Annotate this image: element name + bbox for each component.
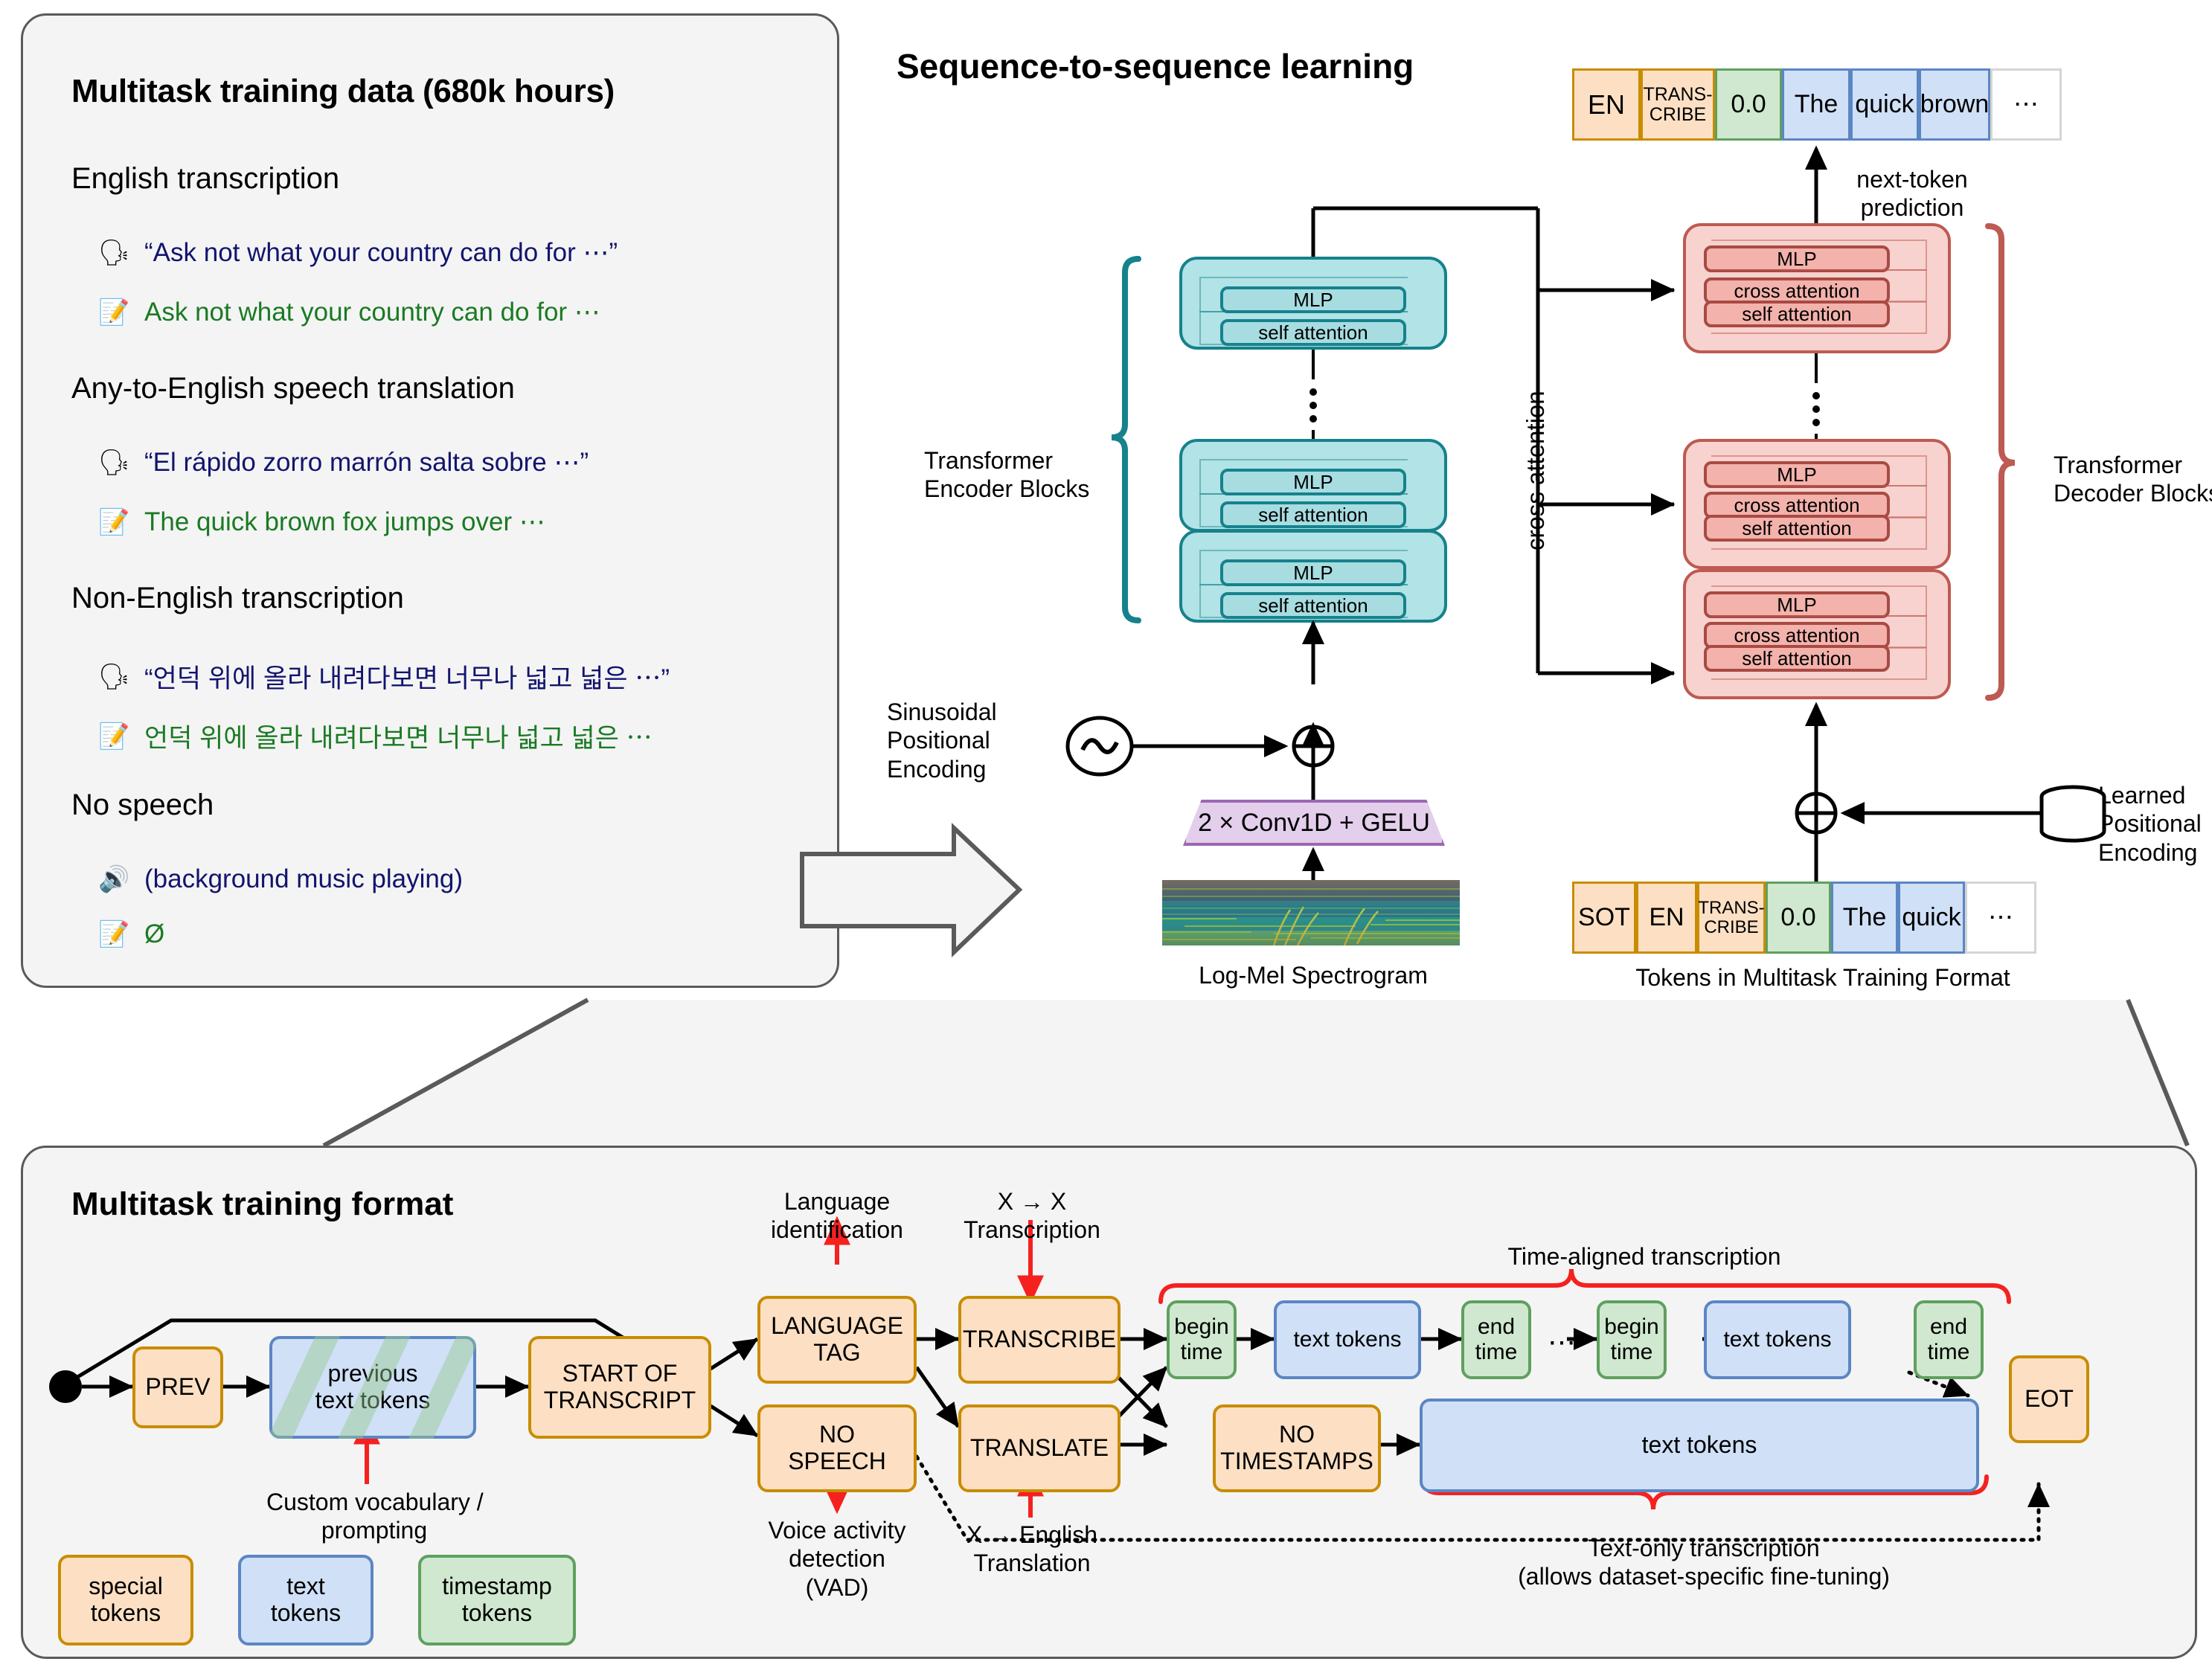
annotation-x-to-x-transcription: X → X Transcription bbox=[939, 1187, 1125, 1245]
node-prev[interactable]: PREV bbox=[132, 1346, 223, 1428]
encoder-mlp: MLP bbox=[1220, 469, 1406, 495]
decoder-self-attention: self attention bbox=[1704, 645, 1890, 672]
output-token-quick: quick bbox=[1850, 68, 1919, 141]
legend-text-tokens: text tokens bbox=[238, 1555, 374, 1646]
encoder-self-attention: self attention bbox=[1220, 592, 1406, 619]
decoder-mlp: MLP bbox=[1704, 461, 1890, 488]
annotation-vad: Voice activity detection (VAD) bbox=[744, 1516, 930, 1602]
next-token-prediction-label: next-token prediction bbox=[1808, 165, 2016, 222]
memo-pencil-icon: 📝 bbox=[98, 722, 144, 751]
memo-pencil-icon: 📝 bbox=[98, 507, 144, 537]
encoder-mlp: MLP bbox=[1220, 286, 1406, 313]
loudspeaker-icon: 🔊 bbox=[98, 864, 144, 894]
node-end-time-1[interactable]: end time bbox=[1461, 1300, 1531, 1379]
transcript-example-text: 언덕 위에 올라 내려다보면 너무나 넓고 넓은 ⋯ bbox=[144, 717, 653, 755]
decoder-self-attention: self attention bbox=[1704, 515, 1890, 542]
example-row-speech: 🗣 “언덕 위에 올라 내려다보면 너무나 넓고 넓은 ⋯” bbox=[98, 658, 842, 696]
output-token-timestamp: 0.0 bbox=[1715, 68, 1782, 141]
output-token-the: The bbox=[1782, 68, 1850, 141]
input-token-en: EN bbox=[1636, 882, 1697, 954]
log-mel-spectrogram-image bbox=[1162, 880, 1460, 945]
speaking-head-icon: 🗣 bbox=[98, 448, 144, 478]
cross-attention-label: cross attention bbox=[1522, 391, 1550, 550]
input-token-timestamp: 0.0 bbox=[1766, 882, 1831, 954]
architecture-title: Sequence-to-sequence learning bbox=[897, 46, 1414, 86]
output-token-en: EN bbox=[1572, 68, 1641, 141]
encoder-bracket-label: Transformer Encoder Blocks bbox=[924, 446, 1125, 504]
encoder-self-attention: self attention bbox=[1220, 319, 1406, 346]
speaking-head-icon: 🗣 bbox=[98, 238, 144, 268]
format-panel-title: Multitask training format bbox=[71, 1186, 453, 1223]
section-heading-non-english-transcription: Non-English transcription bbox=[71, 582, 404, 615]
transcript-example-text: The quick brown fox jumps over ⋯ bbox=[144, 507, 545, 537]
input-token-quick: quick bbox=[1898, 882, 1965, 954]
tokens-caption: Tokens in Multitask Training Format bbox=[1592, 963, 2054, 992]
annotation-language-identification: Language identification bbox=[744, 1187, 930, 1245]
legend-timestamp-tokens: timestamp tokens bbox=[418, 1555, 576, 1646]
node-start-of-transcript[interactable]: START OF TRANSCRIPT bbox=[528, 1336, 711, 1439]
memo-pencil-icon: 📝 bbox=[98, 919, 144, 949]
annotation-x-to-english-translation: X → English Translation bbox=[939, 1521, 1125, 1578]
node-end-time-2[interactable]: end time bbox=[1914, 1300, 1984, 1379]
flow-ellipsis: ⋯ bbox=[1548, 1326, 1576, 1359]
node-text-tokens-1[interactable]: text tokens bbox=[1274, 1300, 1421, 1379]
encoder-self-attention: self attention bbox=[1220, 501, 1406, 528]
transcript-example-text: Ask not what your country can do for ⋯ bbox=[144, 298, 600, 327]
node-transcribe[interactable]: TRANSCRIBE bbox=[958, 1296, 1121, 1384]
memo-pencil-icon: 📝 bbox=[98, 298, 144, 327]
sinusoidal-positional-encoding-label: Sinusoidal Positional Encoding bbox=[887, 698, 1065, 783]
example-row-transcript: 📝 언덕 위에 올라 내려다보면 너무나 넓고 넓은 ⋯ bbox=[98, 717, 842, 755]
example-row-speech: 🗣 “Ask not what your country can do for … bbox=[98, 238, 812, 268]
multitask-training-data-panel bbox=[21, 13, 839, 988]
input-token-sot: SOT bbox=[1572, 882, 1636, 954]
page-title: Multitask training data (680k hours) bbox=[71, 73, 615, 110]
speech-example-text: “El rápido zorro marrón salta sobre ⋯” bbox=[144, 448, 589, 478]
example-row-speech: 🔊 (background music playing) bbox=[98, 864, 812, 894]
node-no-speech[interactable]: NO SPEECH bbox=[757, 1404, 917, 1492]
node-begin-time-2[interactable]: begin time bbox=[1597, 1300, 1667, 1379]
legend-special-tokens: special tokens bbox=[58, 1555, 193, 1646]
speaking-head-icon: 🗣 bbox=[98, 662, 144, 692]
annotation-time-aligned-transcription: Time-aligned transcription bbox=[1391, 1242, 1897, 1271]
section-heading-english-transcription: English transcription bbox=[71, 162, 339, 196]
learned-positional-encoding-label: Learned Positional Encoding bbox=[2098, 781, 2212, 867]
spectrogram-caption: Log-Mel Spectrogram bbox=[1142, 961, 1484, 989]
speech-example-text: (background music playing) bbox=[144, 864, 463, 894]
node-eot[interactable]: EOT bbox=[2009, 1355, 2089, 1443]
conv1d-gelu-block: 2 × Conv1D + GELU bbox=[1183, 800, 1445, 846]
output-token-brown: brown bbox=[1919, 68, 1990, 141]
node-begin-time-1[interactable]: begin time bbox=[1167, 1300, 1237, 1379]
output-token-ellipsis: ⋯ bbox=[1990, 68, 2062, 141]
output-token-transcribe: TRANS- CRIBE bbox=[1641, 68, 1715, 141]
node-language-tag[interactable]: LANGUAGE TAG bbox=[757, 1296, 917, 1384]
example-row-transcript: 📝 The quick brown fox jumps over ⋯ bbox=[98, 507, 812, 537]
input-token-the: The bbox=[1831, 882, 1898, 954]
input-token-transcribe: TRANS- CRIBE bbox=[1697, 882, 1766, 954]
annotation-text-only-transcription: Text-only transcription (allows dataset-… bbox=[1391, 1534, 2016, 1591]
annotation-custom-vocabulary: Custom vocabulary / prompting bbox=[266, 1488, 482, 1545]
section-heading-speech-translation: Any-to-English speech translation bbox=[71, 372, 515, 405]
node-previous-text-tokens[interactable]: previous text tokens bbox=[269, 1336, 476, 1439]
decoder-self-attention: self attention bbox=[1704, 301, 1890, 327]
example-row-speech: 🗣 “El rápido zorro marrón salta sobre ⋯” bbox=[98, 448, 812, 478]
input-token-ellipsis: ⋯ bbox=[1965, 882, 2036, 954]
node-no-timestamps[interactable]: NO TIMESTAMPS bbox=[1213, 1404, 1381, 1492]
node-text-tokens-long[interactable]: text tokens bbox=[1420, 1399, 1979, 1492]
example-row-transcript: 📝 Ø bbox=[98, 919, 812, 949]
speech-example-text: “언덕 위에 올라 내려다보면 너무나 넓고 넓은 ⋯” bbox=[144, 658, 670, 696]
encoder-mlp: MLP bbox=[1220, 559, 1406, 586]
node-translate[interactable]: TRANSLATE bbox=[958, 1404, 1121, 1492]
speech-example-text: “Ask not what your country can do for ⋯” bbox=[144, 238, 618, 268]
decoder-mlp: MLP bbox=[1704, 245, 1890, 272]
transcript-example-text: Ø bbox=[144, 919, 164, 949]
decoder-bracket-label: Transformer Decoder Blocks bbox=[2054, 451, 2212, 508]
node-text-tokens-2[interactable]: text tokens bbox=[1704, 1300, 1851, 1379]
section-heading-no-speech: No speech bbox=[71, 789, 214, 822]
decoder-mlp: MLP bbox=[1704, 591, 1890, 618]
example-row-transcript: 📝 Ask not what your country can do for ⋯ bbox=[98, 298, 812, 327]
